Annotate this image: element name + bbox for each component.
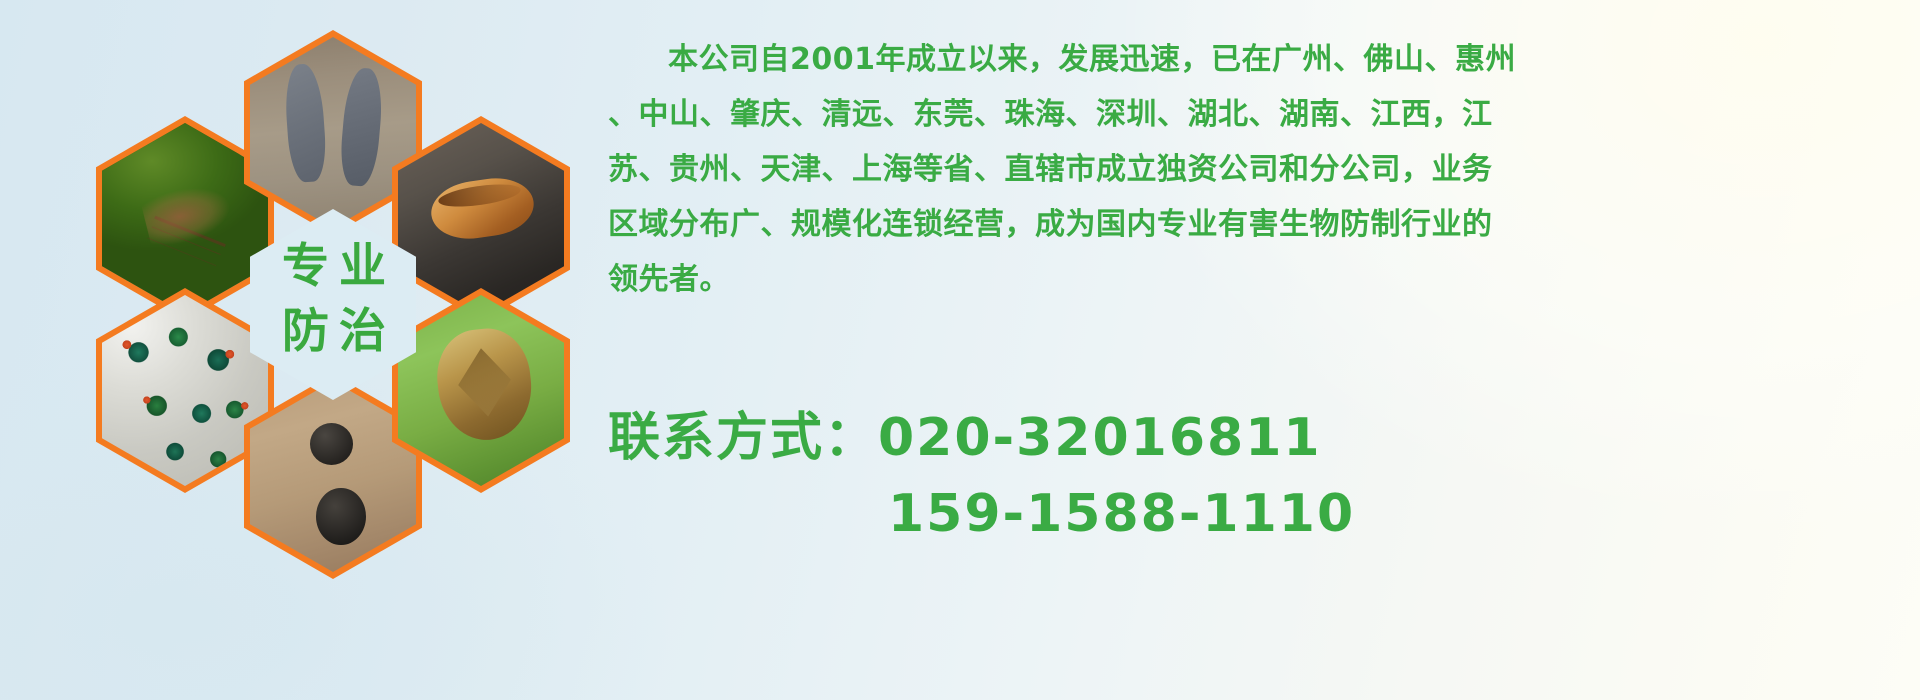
company-intro-paragraph: 本公司自2001年成立以来，发展迅速，已在广州、佛山、惠州 、中山、肇庆、清远、…: [608, 32, 1888, 307]
intro-line-5: 领先者。: [608, 252, 1888, 307]
hex-image-ant: [250, 381, 416, 572]
contact-block: 联系方式：020-32016811 159-1588-1110: [608, 400, 1888, 552]
intro-line-4: 区域分布广、规模化连锁经营，成为国内专业有害生物防制行业的: [608, 197, 1888, 252]
rats-photo: [250, 37, 416, 228]
hex-image-stink-bug: [398, 295, 564, 486]
intro-line-1: 本公司自2001年成立以来，发展迅速，已在广州、佛山、惠州: [608, 32, 1888, 87]
intro-line-2: 、中山、肇庆、清远、东莞、珠海、深圳、湖北、湖南、江西，江: [608, 87, 1888, 142]
contact-phone-secondary[interactable]: 159-1588-1110: [608, 476, 1888, 552]
honeycomb-gallery: 专业 防治: [96, 12, 616, 560]
ant-photo: [250, 381, 416, 572]
hex-image-cockroach: [398, 123, 564, 314]
flies-photo: [102, 295, 268, 486]
hex-center-plate: [250, 209, 416, 400]
promo-banner: 专业 防治 本公司自2001年成立以来，发展迅速，已在广州、佛山、惠州 、中山、…: [0, 0, 1920, 700]
hex-image-flies: [102, 295, 268, 486]
mosquito-photo: [102, 123, 268, 314]
hex-image-rats: [250, 37, 416, 228]
hex-image-mosquito: [102, 123, 268, 314]
cockroach-photo: [398, 123, 564, 314]
contact-phone-primary[interactable]: 联系方式：020-32016811: [608, 400, 1888, 476]
stink-bug-photo: [398, 295, 564, 486]
intro-line-3: 苏、贵州、天津、上海等省、直辖市成立独资公司和分公司，业务: [608, 142, 1888, 197]
